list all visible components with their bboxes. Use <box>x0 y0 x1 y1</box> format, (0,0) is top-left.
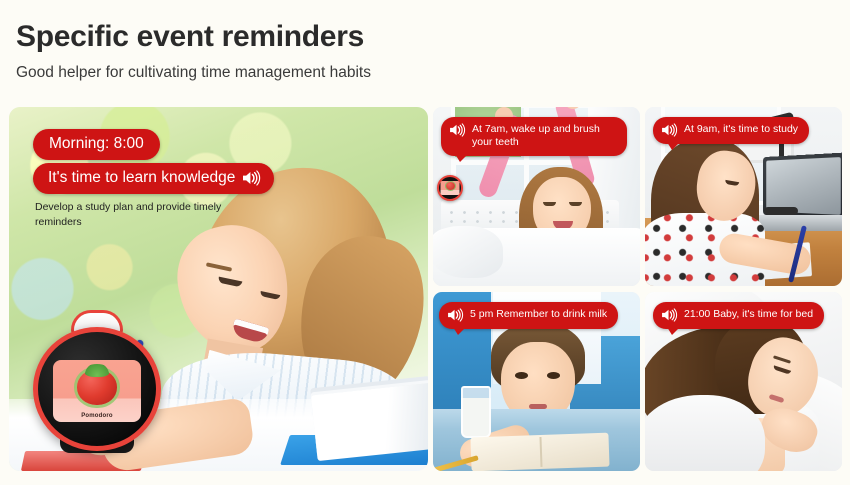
hero-message-badge-label: It's time to learn knowledge <box>48 169 235 187</box>
reminder-bubble-label: At 9am, it's time to study <box>684 123 798 136</box>
reminder-bubble-label: 5 pm Remember to drink milk <box>470 308 607 321</box>
speaker-icon[interactable] <box>449 123 466 137</box>
page-subtitle: Good helper for cultivating time managem… <box>16 64 850 83</box>
clock-inset-screen <box>441 181 460 195</box>
speaker-icon[interactable] <box>242 170 261 186</box>
reminder-bubble-label: 21:00 Baby, it's time for bed <box>684 308 813 321</box>
hero-panel-study-plan[interactable]: Morning: 8:00 It's time to learn knowled… <box>9 107 428 471</box>
panel-wake-up[interactable]: At 7am, wake up and brush your teeth <box>433 107 640 286</box>
speaker-icon[interactable] <box>661 308 678 322</box>
page-header: Specific event reminders Good helper for… <box>0 0 850 83</box>
hero-time-badge[interactable]: Morning: 8:00 <box>33 129 160 160</box>
hero-time-badge-label: Morning: 8:00 <box>49 135 144 153</box>
reminder-bubble-drink-milk[interactable]: 5 pm Remember to drink milk <box>439 302 618 329</box>
reminder-bubble-label: At 7am, wake up and brush your teeth <box>472 123 616 149</box>
panel-bedtime[interactable]: 21:00 Baby, it's time for bed <box>645 292 842 471</box>
reminder-bubble-wake-up[interactable]: At 7am, wake up and brush your teeth <box>441 117 627 156</box>
tomato-icon <box>77 369 117 405</box>
pomodoro-clock-device[interactable]: Pomodoro <box>33 313 161 453</box>
hero-description: Develop a study plan and provide timely … <box>35 200 225 230</box>
pomodoro-clock-inset[interactable] <box>437 175 463 201</box>
clock-body: Pomodoro <box>33 327 161 451</box>
page-title: Specific event reminders <box>16 20 850 53</box>
reminder-bubble-bedtime[interactable]: 21:00 Baby, it's time for bed <box>653 302 824 329</box>
panel-drink-milk[interactable]: 5 pm Remember to drink milk <box>433 292 640 471</box>
reminder-gallery: Morning: 8:00 It's time to learn knowled… <box>9 107 842 471</box>
speaker-icon[interactable] <box>661 123 678 137</box>
hero-message-badge[interactable]: It's time to learn knowledge <box>33 163 274 194</box>
reminder-bubble-study[interactable]: At 9am, it's time to study <box>653 117 809 144</box>
panel-study[interactable]: At 9am, it's time to study <box>645 107 842 286</box>
tomato-icon <box>446 182 455 190</box>
speaker-icon[interactable] <box>447 308 464 322</box>
clock-screen-label: Pomodoro <box>53 413 141 419</box>
clock-screen[interactable]: Pomodoro <box>53 360 141 422</box>
